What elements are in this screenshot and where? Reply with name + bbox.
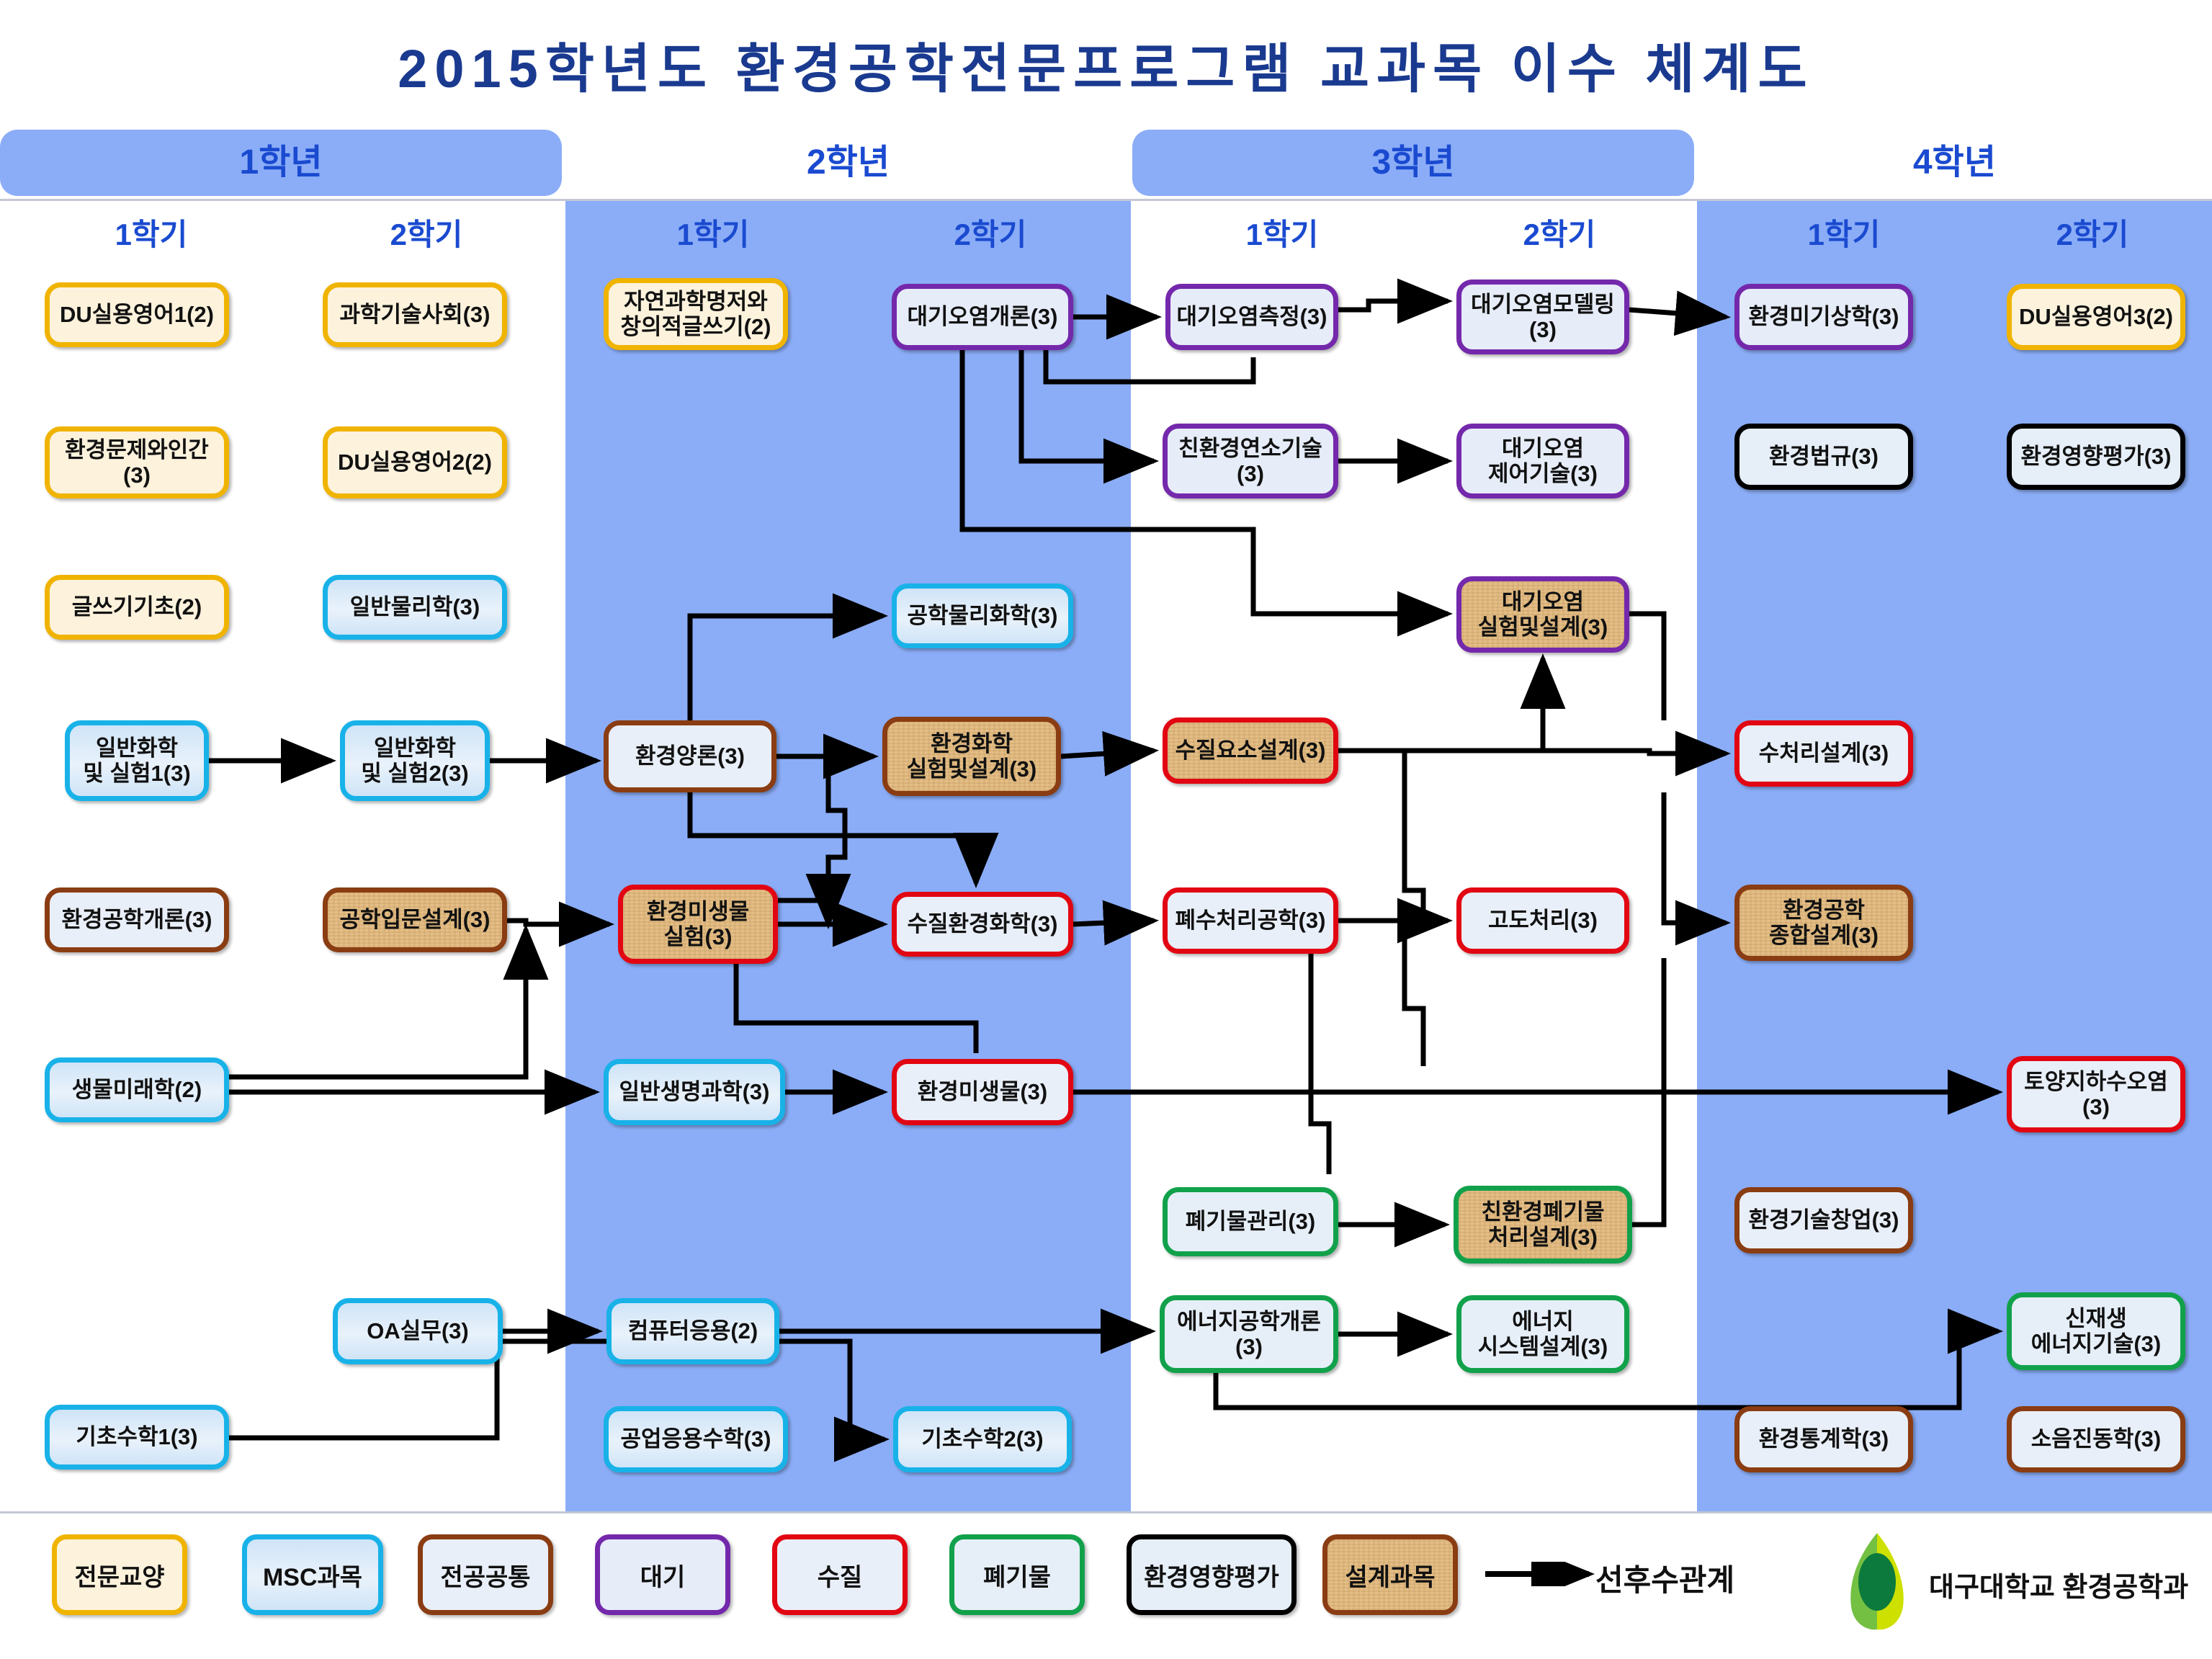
divider-bottom bbox=[0, 1511, 2212, 1513]
semester-label-2: 2학기 bbox=[290, 213, 563, 256]
course-box-ilbanhwa1[interactable]: 일반화학 및 실험1(3) bbox=[65, 720, 209, 801]
course-box-du3[interactable]: DU실용영어3(2) bbox=[2007, 284, 2185, 350]
course-box-godo[interactable]: 고도처리(3) bbox=[1456, 887, 1629, 954]
course-box-du1[interactable]: DU실용영어1(2) bbox=[45, 282, 229, 347]
course-box-daegisil[interactable]: 대기오염 실험및설계(3) bbox=[1456, 576, 1629, 653]
course-box-hwyeonghyang[interactable]: 환경영향평가(3) bbox=[2007, 424, 2185, 490]
legend-item-6[interactable]: 환경영향평가 bbox=[1127, 1534, 1297, 1615]
course-box-soeum[interactable]: 소음진동학(3) bbox=[2007, 1406, 2185, 1472]
relation-arrow-icon bbox=[1484, 1562, 1599, 1586]
course-box-hwmigi[interactable]: 환경미기상학(3) bbox=[1734, 284, 1913, 350]
semester-label-6: 2학기 bbox=[1423, 213, 1696, 256]
legend-item-1[interactable]: MSC과목 bbox=[242, 1534, 383, 1615]
course-box-sucheoli[interactable]: 수처리설계(3) bbox=[1734, 720, 1913, 787]
course-box-sujilyoso[interactable]: 수질요소설계(3) bbox=[1163, 717, 1338, 784]
course-box-chinyeonso[interactable]: 친환경연소기술 (3) bbox=[1163, 424, 1338, 498]
legend-item-3[interactable]: 대기 bbox=[595, 1534, 730, 1615]
course-box-hwanyang[interactable]: 환경양론(3) bbox=[604, 720, 776, 792]
grade-label-4: 4학년 bbox=[1697, 130, 2212, 196]
course-box-ilbanhwa2[interactable]: 일반화학 및 실험2(3) bbox=[340, 720, 490, 801]
course-box-hwbeop[interactable]: 환경법규(3) bbox=[1734, 424, 1913, 490]
course-box-saengmul[interactable]: 생물미래학(2) bbox=[45, 1057, 229, 1122]
course-box-daegigae[interactable]: 대기오염개론(3) bbox=[892, 284, 1073, 350]
course-box-gongeop[interactable]: 공업응용수학(3) bbox=[604, 1406, 788, 1472]
grade-label-3: 3학년 bbox=[1132, 130, 1694, 196]
course-box-pyegimul[interactable]: 폐기물관리(3) bbox=[1163, 1187, 1338, 1256]
course-box-energygae[interactable]: 에너지공학개론 (3) bbox=[1160, 1295, 1338, 1373]
course-box-daegicheuk[interactable]: 대기오염측정(3) bbox=[1165, 284, 1338, 350]
course-box-daegijeo[interactable]: 대기오염 제어기술(3) bbox=[1456, 424, 1629, 498]
course-box-hwanmisaeng[interactable]: 환경미생물(3) bbox=[892, 1059, 1073, 1125]
legend-item-4[interactable]: 수질 bbox=[772, 1534, 908, 1615]
course-box-du2[interactable]: DU실용영어2(2) bbox=[323, 426, 507, 498]
page-title: 2015학년도 환경공학전문프로그램 교과목 이수 체계도 bbox=[0, 26, 2212, 103]
course-box-gongipmun[interactable]: 공학입문설계(3) bbox=[323, 887, 507, 952]
course-box-jayeon[interactable]: 자연과학명저와 창의적글쓰기(2) bbox=[604, 278, 788, 350]
course-box-daegimodel[interactable]: 대기오염모델링 (3) bbox=[1456, 280, 1629, 354]
course-box-gonghakmul[interactable]: 공학물리화학(3) bbox=[892, 583, 1073, 648]
course-box-toyang[interactable]: 토양지하수오염 (3) bbox=[2007, 1056, 2185, 1132]
course-box-gichosu2[interactable]: 기초수학2(3) bbox=[893, 1406, 1072, 1472]
course-box-pyesuchi[interactable]: 폐수처리공학(3) bbox=[1163, 887, 1338, 954]
course-box-gwahak[interactable]: 과학기술사회(3) bbox=[323, 282, 507, 347]
semester-label-5: 1학기 bbox=[1145, 213, 1419, 256]
legend-item-0[interactable]: 전문교양 bbox=[52, 1534, 187, 1615]
semester-label-3: 1학기 bbox=[576, 213, 850, 256]
course-box-hwmisil[interactable]: 환경미생물 실험(3) bbox=[618, 885, 778, 964]
course-box-gichosu1[interactable]: 기초수학1(3) bbox=[45, 1405, 229, 1470]
relation-label: 선후수관계 bbox=[1595, 1556, 1734, 1600]
legend-item-5[interactable]: 폐기물 bbox=[949, 1534, 1085, 1615]
department-name: 대구대학교 환경공학과 bbox=[1929, 1565, 2188, 1604]
course-box-ilbanmul[interactable]: 일반물리학(3) bbox=[323, 575, 507, 640]
semester-label-1: 1학기 bbox=[14, 213, 288, 256]
course-box-ilbansaeng[interactable]: 일반생명과학(3) bbox=[604, 1059, 785, 1125]
course-box-hwgisul[interactable]: 환경기술창업(3) bbox=[1734, 1187, 1913, 1253]
semester-label-4: 2학기 bbox=[854, 213, 1127, 256]
course-box-hwgonggae[interactable]: 환경공학개론(3) bbox=[45, 887, 229, 952]
university-logo-icon bbox=[1835, 1531, 1919, 1631]
course-box-hwmunje[interactable]: 환경문제와인간 (3) bbox=[45, 426, 229, 498]
course-box-computer[interactable]: 컴퓨터응용(2) bbox=[606, 1298, 779, 1364]
legend-item-2[interactable]: 전공공통 bbox=[418, 1534, 553, 1615]
course-box-hwtong[interactable]: 환경통계학(3) bbox=[1734, 1406, 1913, 1472]
course-box-hwjonghap[interactable]: 환경공학 종합설계(3) bbox=[1734, 885, 1913, 961]
course-box-sinjae[interactable]: 신재생 에너지기술(3) bbox=[2007, 1292, 2185, 1370]
legend-item-7[interactable]: 설계과목 bbox=[1322, 1534, 1458, 1615]
semester-label-7: 1학기 bbox=[1707, 213, 1981, 256]
course-box-sujilhwan[interactable]: 수질환경화학(3) bbox=[892, 892, 1073, 957]
divider-top bbox=[0, 199, 2212, 201]
course-box-chinpyegi[interactable]: 친환경폐기물 처리설계(3) bbox=[1454, 1186, 1632, 1264]
course-box-hwahwa[interactable]: 환경화학 실험및설계(3) bbox=[882, 717, 1061, 796]
grade-label-1: 1학년 bbox=[0, 130, 562, 196]
grade-label-2: 2학년 bbox=[565, 130, 1131, 196]
course-box-oa[interactable]: OA실무(3) bbox=[333, 1298, 503, 1364]
semester-label-8: 2학기 bbox=[1984, 213, 2200, 256]
course-box-geulssugi[interactable]: 글쓰기기초(2) bbox=[45, 575, 229, 640]
course-box-energysys[interactable]: 에너지 시스템설계(3) bbox=[1456, 1295, 1629, 1373]
